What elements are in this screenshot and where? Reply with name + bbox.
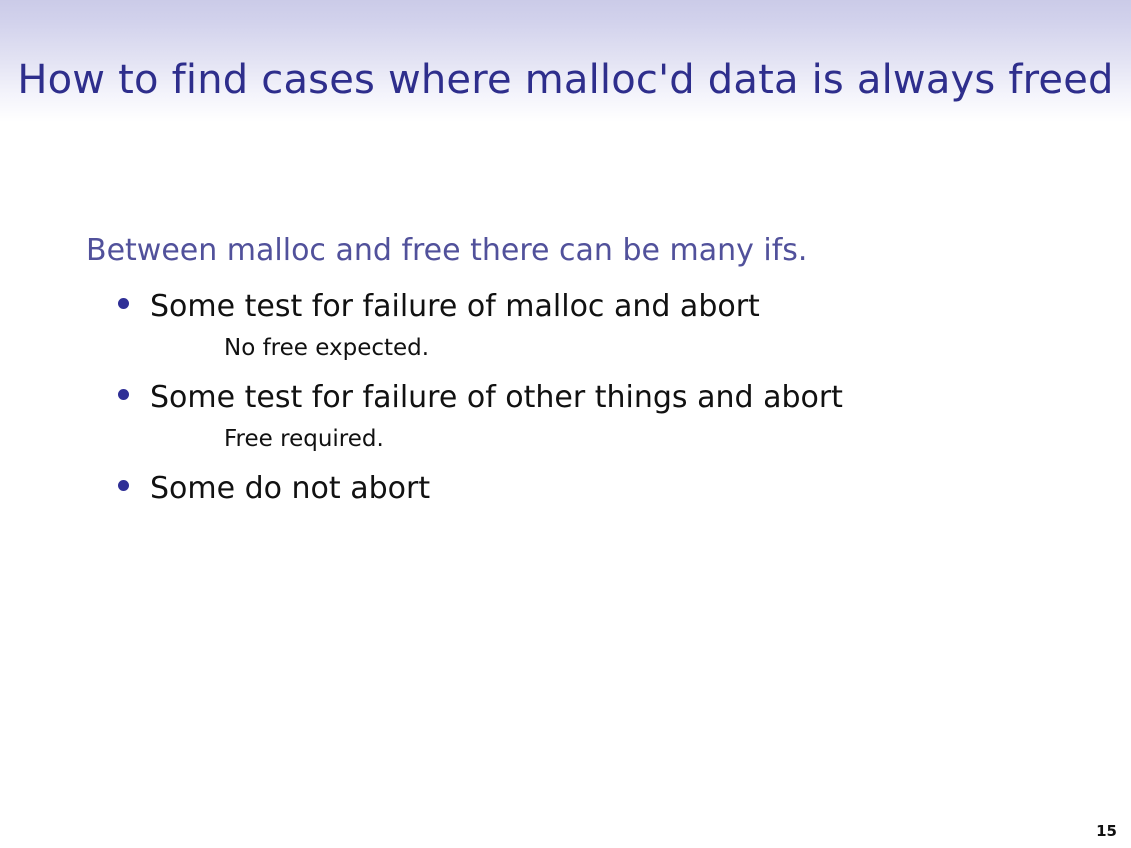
intro-text: Between malloc and free there can be man… [86,232,807,270]
list-item: Some do not abort [118,472,430,506]
list-item: Some test for failure of other things an… [118,381,843,415]
slide-canvas: How to find cases where malloc'd data is… [0,0,1131,848]
bullet-dot-icon [118,389,129,400]
list-item: Some test for failure of malloc and abor… [118,290,760,324]
bullet-dot-icon [118,298,129,309]
list-item-subtext: No free expected. [224,335,429,362]
bullet-dot-icon [118,480,129,491]
page-title: How to find cases where malloc'd data is… [0,56,1131,104]
list-item-label: Some test for failure of malloc and abor… [150,290,760,324]
list-item-label: Some test for failure of other things an… [150,381,843,415]
page-number: 15 [1096,822,1117,840]
list-item-label: Some do not abort [150,472,430,506]
list-item-subtext: Free required. [224,426,384,453]
